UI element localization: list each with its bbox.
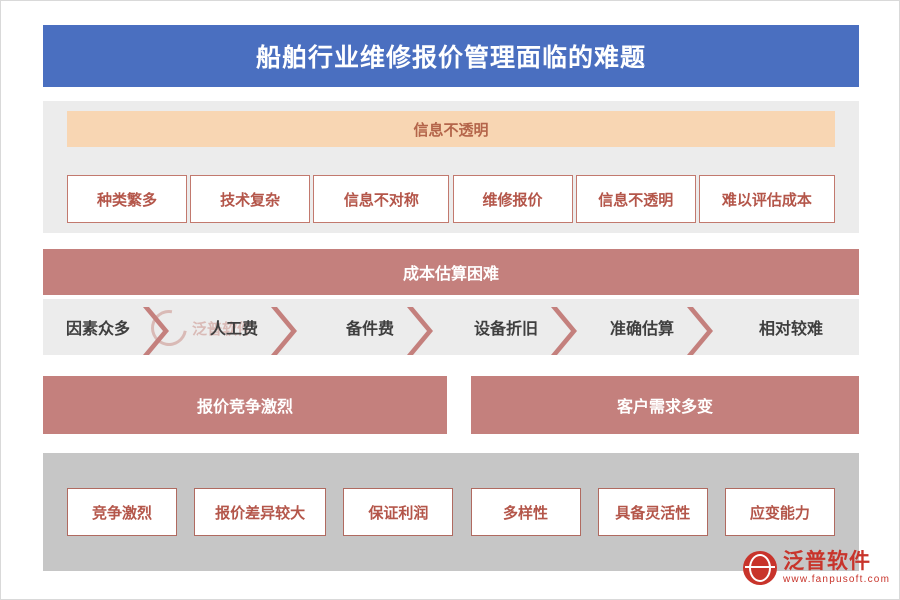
- chevron-item[interactable]: 相对较难: [723, 299, 859, 355]
- chevron-label: 因素众多: [66, 315, 130, 339]
- section-information-opacity-header: 信息不透明: [67, 111, 835, 147]
- chip-label: 保证利润: [368, 502, 428, 523]
- chip-item[interactable]: 多样性: [471, 488, 581, 536]
- chip-label: 信息不对称: [344, 189, 419, 210]
- section-information-opacity-header-label: 信息不透明: [413, 119, 488, 140]
- page-title: 船舶行业维修报价管理面临的难题: [256, 38, 646, 74]
- chip-item[interactable]: 报价差异较大: [194, 488, 326, 536]
- chevron-label: 备件费: [346, 315, 394, 339]
- chip-item[interactable]: 难以评估成本: [699, 175, 835, 223]
- chevron-right-icon: [687, 307, 713, 355]
- chip-label: 维修报价: [483, 189, 543, 210]
- section-cost-estimation-header: 成本估算困难: [43, 249, 859, 295]
- section-information-opacity-items: 种类繁多 技术复杂 信息不对称 维修报价 信息不透明 难以评估成本: [67, 175, 835, 223]
- chip-item[interactable]: 维修报价: [453, 175, 573, 223]
- section-competition-and-demand-items: 竞争激烈 报价差异较大 保证利润 多样性 具备灵活性 应变能力: [67, 488, 835, 536]
- chevron-item[interactable]: 设备折旧: [451, 299, 587, 355]
- chevron-label: 准确估算: [610, 315, 674, 339]
- chip-label: 种类繁多: [97, 189, 157, 210]
- chevron-right-icon: [143, 307, 169, 355]
- chevron-label: 设备折旧: [474, 315, 538, 339]
- section-demand-header-label: 客户需求多变: [617, 393, 713, 417]
- chevron-label: 相对较难: [759, 315, 823, 339]
- section-competition-header-label: 报价竞争激烈: [197, 393, 293, 417]
- chip-item[interactable]: 保证利润: [343, 488, 453, 536]
- chip-label: 难以评估成本: [722, 189, 812, 210]
- brand-url: www.fanpusoft.com: [783, 575, 890, 585]
- chip-label: 多样性: [503, 502, 548, 523]
- chevron-right-icon: [551, 307, 577, 355]
- chip-item[interactable]: 技术复杂: [190, 175, 310, 223]
- diagram-page: 船舶行业维修报价管理面临的难题 信息不透明 种类繁多 技术复杂 信息不对称 维修…: [0, 0, 900, 600]
- brand-name-cn: 泛普软件: [783, 551, 890, 572]
- chevron-label: 人工费: [210, 315, 258, 339]
- chip-item[interactable]: 信息不透明: [576, 175, 696, 223]
- chip-label: 报价差异较大: [215, 502, 305, 523]
- chip-label: 信息不透明: [598, 189, 673, 210]
- chip-item[interactable]: 具备灵活性: [598, 488, 708, 536]
- section-competition-header: 报价竞争激烈: [43, 376, 447, 434]
- section-cost-estimation-header-label: 成本估算困难: [403, 260, 499, 284]
- chevron-item[interactable]: 准确估算: [587, 299, 723, 355]
- chevron-item[interactable]: 因素众多: [43, 299, 179, 355]
- chip-item[interactable]: 信息不对称: [313, 175, 449, 223]
- chip-label: 竞争激烈: [92, 502, 152, 523]
- chip-item[interactable]: 种类繁多: [67, 175, 187, 223]
- chip-item[interactable]: 竞争激烈: [67, 488, 177, 536]
- page-title-bar: 船舶行业维修报价管理面临的难题: [43, 25, 859, 87]
- section-demand-header: 客户需求多变: [471, 376, 859, 434]
- chevron-right-icon: [407, 307, 433, 355]
- chevron-right-icon: [271, 307, 297, 355]
- chip-label: 应变能力: [750, 502, 810, 523]
- brand-logo: 泛普软件 www.fanpusoft.com: [743, 545, 891, 591]
- chevron-item[interactable]: 人工费: [179, 299, 315, 355]
- brand-logo-text: 泛普软件 www.fanpusoft.com: [783, 551, 890, 585]
- section-cost-estimation-items: 因素众多 人工费 备件费 设备折旧 准确估算: [43, 299, 859, 355]
- chip-label: 技术复杂: [220, 189, 280, 210]
- globe-icon: [743, 551, 777, 585]
- chip-item[interactable]: 应变能力: [725, 488, 835, 536]
- chevron-item[interactable]: 备件费: [315, 299, 451, 355]
- chip-label: 具备灵活性: [615, 502, 690, 523]
